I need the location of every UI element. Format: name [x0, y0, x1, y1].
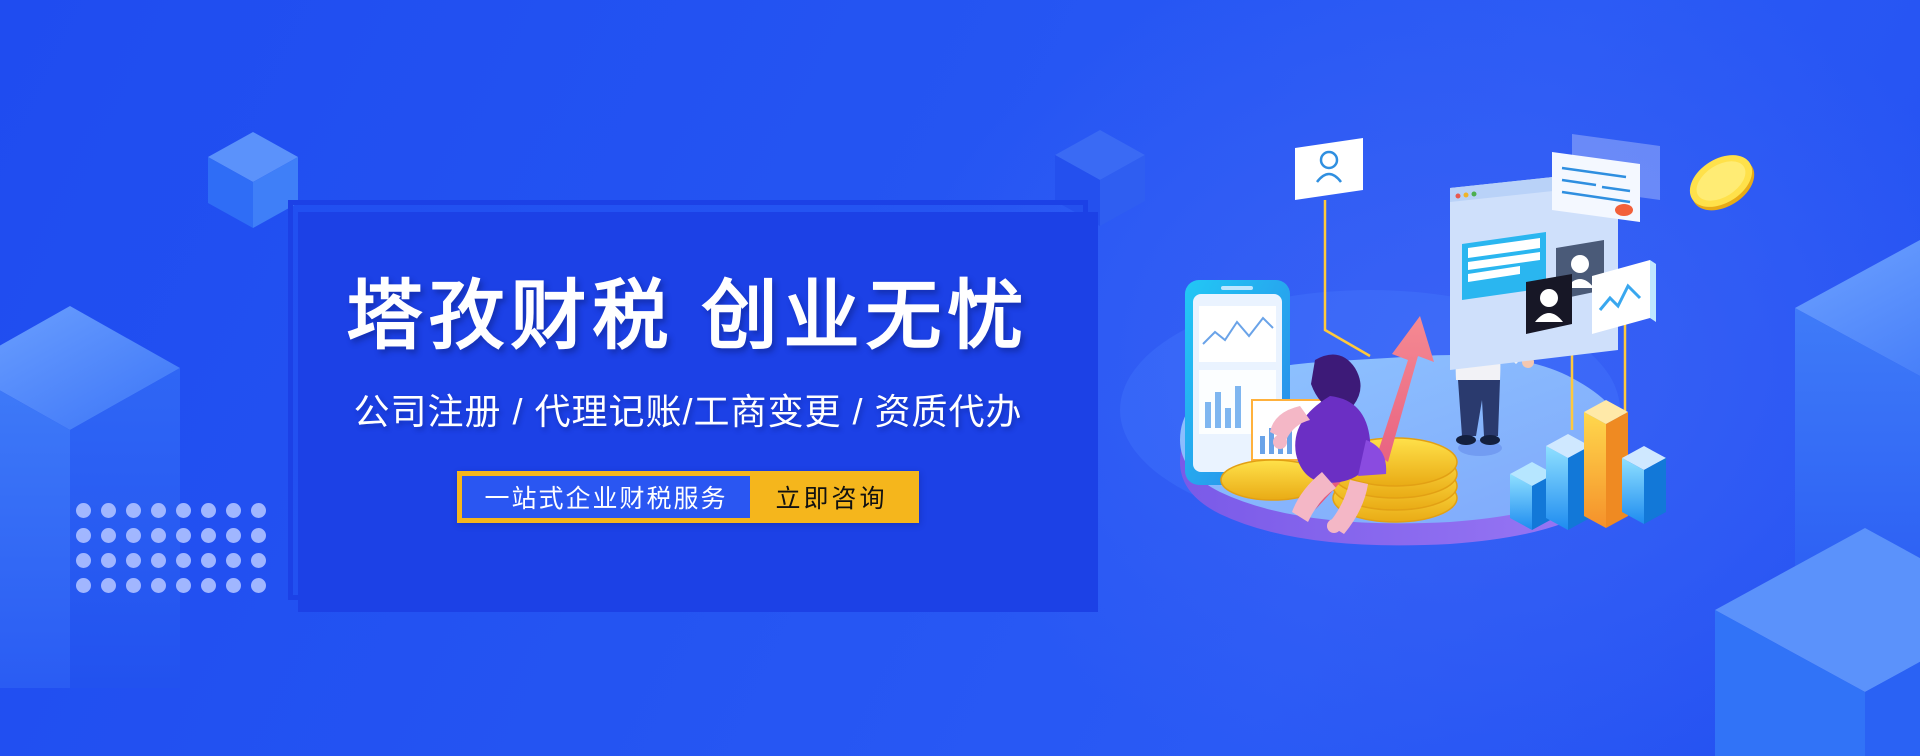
banner-content: 塔孜财税 创业无忧 公司注册 / 代理记账/工商变更 / 资质代办 一站式企业财… [288, 200, 1088, 600]
iso-box-right-lower-shape [1715, 510, 1920, 756]
iso-box-left-shape [0, 248, 260, 688]
cta-tagline: 一站式企业财税服务 [462, 476, 749, 518]
cta-row: 一站式企业财税服务 立即咨询 [457, 471, 918, 523]
promo-banner: 塔孜财税 创业无忧 公司注册 / 代理记账/工商变更 / 资质代办 一站式企业财… [0, 0, 1920, 756]
cube-left-shape [208, 130, 298, 230]
iso-box-right-tall-shape [1795, 200, 1920, 620]
service-list-subtitle: 公司注册 / 代理记账/工商变更 / 资质代办 [353, 383, 1022, 435]
page-title: 塔孜财税 创业无忧 [346, 277, 1029, 357]
dot-grid-decoration [76, 503, 276, 603]
isometric-finance-illustration [1120, 110, 1720, 570]
consult-now-button[interactable]: 立即咨询 [750, 476, 914, 518]
